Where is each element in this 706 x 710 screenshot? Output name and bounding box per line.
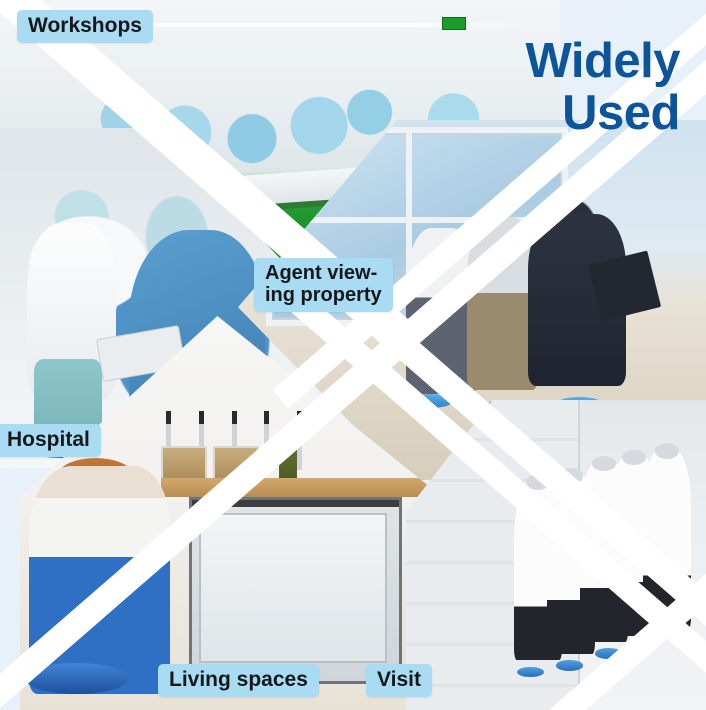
shoe-cover [556,660,583,671]
hair-net [622,450,646,466]
caption-agent-viewing-property: Agent view- ing property [254,258,393,312]
hair-net [655,443,679,459]
caption-workshops: Workshops [17,10,153,43]
collage-canvas: Widely Used Workshops Agent view- ing pr… [0,0,706,710]
caption-living-spaces: Living spaces [158,664,319,697]
dishwasher-door-inner [199,513,387,663]
shoe-cover [517,667,544,678]
headline-widely-used: Widely Used [526,36,680,140]
caption-hospital: Hospital [0,424,101,457]
caption-visit: Visit [366,664,432,697]
exit-sign-icon [442,17,466,30]
